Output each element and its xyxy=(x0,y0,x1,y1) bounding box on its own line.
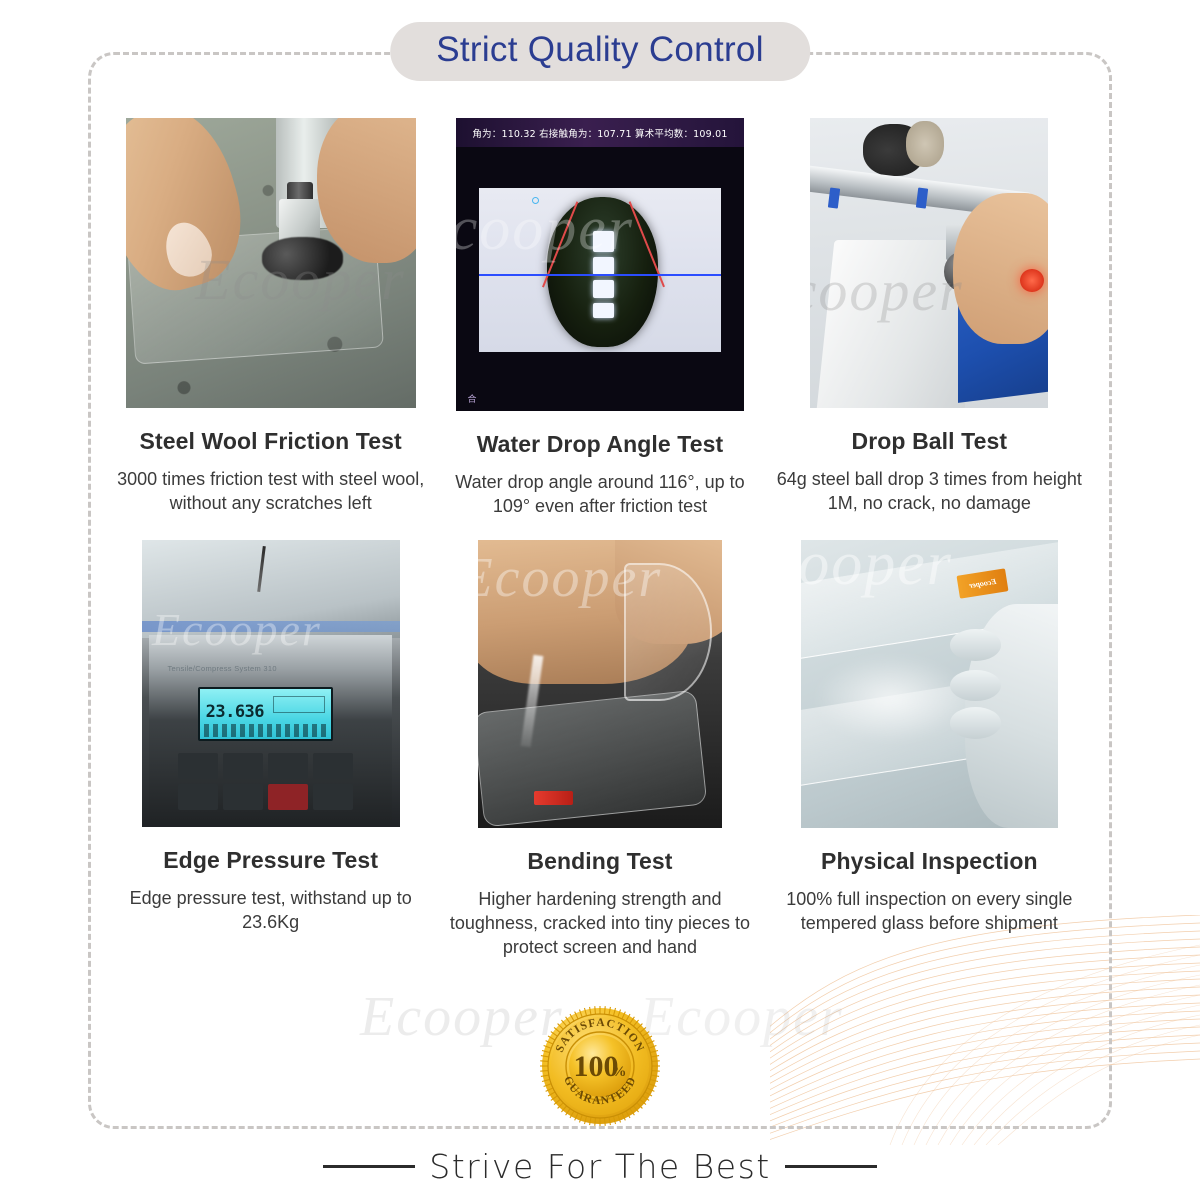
card-steel-wool-friction-test: Ecooper Steel Wool Friction Test 3000 ti… xyxy=(110,118,431,518)
device-trim xyxy=(142,621,400,632)
droplet-highlight xyxy=(593,231,615,252)
photo-wrap: 角为：110.32 右接触角为：107.71 算术平均数：109.01 合 xyxy=(439,118,760,411)
keypad-key[interactable] xyxy=(313,753,353,779)
blue-strap xyxy=(828,187,840,208)
drop-ball-test-photo: Ecooper xyxy=(810,118,1048,408)
keypad-key[interactable] xyxy=(313,784,353,810)
lcd-display: 23.636 xyxy=(198,687,332,742)
cursor-marker xyxy=(532,197,539,204)
screen-footer-mark: 合 xyxy=(468,392,477,405)
droplet-highlight xyxy=(593,257,615,275)
droplet-highlight xyxy=(593,303,615,318)
droplet-highlight xyxy=(593,280,615,298)
baseline xyxy=(479,274,721,276)
steel-wool-pad xyxy=(262,237,343,281)
photo-wrap: Ecooper Ecooper xyxy=(769,540,1090,828)
lcd-value: 23.636 xyxy=(206,702,264,722)
quality-control-infographic: Strict Quality Control Ecooper Steel Woo… xyxy=(0,0,1200,1200)
device-label: Tensile/Compress System 310 xyxy=(167,664,276,673)
footer-text: Strive For The Best xyxy=(429,1147,770,1186)
seal-percent-sign: % xyxy=(612,1064,627,1080)
footer: Strive For The Best xyxy=(0,1147,1200,1186)
card-drop-ball-test: Ecooper Drop Ball Test 64g steel ball dr… xyxy=(769,118,1090,518)
card-title: Steel Wool Friction Test xyxy=(140,428,402,456)
glove-finger xyxy=(950,707,1001,739)
physical-inspection-photo: Ecooper Ecooper xyxy=(801,540,1058,828)
keypad-key[interactable] xyxy=(223,784,263,810)
background-object xyxy=(906,121,944,167)
keypad-key[interactable] xyxy=(223,753,263,779)
card-description: 100% full inspection on every single tem… xyxy=(769,887,1089,936)
photo-wrap: Ecooper xyxy=(439,540,760,828)
photo-wrap: Ecooper xyxy=(110,118,431,408)
photo-wrap: Tensile/Compress System 310 23.636 xyxy=(110,540,431,827)
lcd-segment-row xyxy=(204,724,326,737)
keypad-key[interactable] xyxy=(268,753,308,779)
card-title: Physical Inspection xyxy=(821,848,1038,876)
card-description: Edge pressure test, withstand up to 23.6… xyxy=(111,886,431,935)
brand-sticker-text: Ecooper xyxy=(968,577,997,590)
card-edge-pressure-test: Tensile/Compress System 310 23.636 xyxy=(110,540,431,959)
card-physical-inspection: Ecooper Ecooper Physical Inspection 100%… xyxy=(769,540,1090,959)
card-title: Water Drop Angle Test xyxy=(477,431,724,459)
card-title: Drop Ball Test xyxy=(852,428,1008,456)
card-description: 64g steel ball drop 3 times from height … xyxy=(769,467,1089,516)
page-title: Strict Quality Control xyxy=(390,22,810,81)
satisfaction-guaranteed-seal: SATISFACTION GUARANTEED 100 % xyxy=(538,1004,662,1128)
keypad-key[interactable] xyxy=(178,753,218,779)
keypad-key-red[interactable] xyxy=(268,784,308,810)
card-title: Bending Test xyxy=(527,848,672,876)
page-title-text: Strict Quality Control xyxy=(436,28,764,72)
card-water-drop-angle-test: 角为：110.32 右接触角为：107.71 算术平均数：109.01 合 xyxy=(439,118,760,518)
contact-angle-readout: 角为：110.32 右接触角为：107.71 算术平均数：109.01 xyxy=(456,118,744,147)
red-label-tag xyxy=(534,791,573,805)
photo-wrap: Ecooper xyxy=(769,118,1090,408)
footer-rule-right xyxy=(785,1165,877,1168)
footer-rule-left xyxy=(323,1165,415,1168)
card-description: Water drop angle around 116°, up to 109°… xyxy=(440,470,760,519)
steel-wool-friction-test-photo: Ecooper xyxy=(126,118,416,408)
card-description: 3000 times friction test with steel wool… xyxy=(111,467,431,516)
card-bending-test: Ecooper Bending Test Higher hardening st… xyxy=(439,540,760,959)
measurement-screen xyxy=(479,188,721,352)
glove-finger xyxy=(950,629,1001,661)
test-cards-grid: Ecooper Steel Wool Friction Test 3000 ti… xyxy=(110,118,1090,960)
card-description: Higher hardening strength and toughness,… xyxy=(440,887,760,960)
lcd-secondary-readout xyxy=(273,696,325,713)
keypad[interactable] xyxy=(178,753,353,810)
water-drop-angle-test-photo: 角为：110.32 右接触角为：107.71 算术平均数：109.01 合 xyxy=(456,118,744,411)
emergency-stop-button[interactable] xyxy=(1020,269,1044,292)
bending-test-photo: Ecooper xyxy=(478,540,722,828)
keypad-key[interactable] xyxy=(178,784,218,810)
card-title: Edge Pressure Test xyxy=(163,847,378,875)
flat-tempered-glass xyxy=(478,690,708,828)
edge-pressure-test-photo: Tensile/Compress System 310 23.636 xyxy=(142,540,400,827)
